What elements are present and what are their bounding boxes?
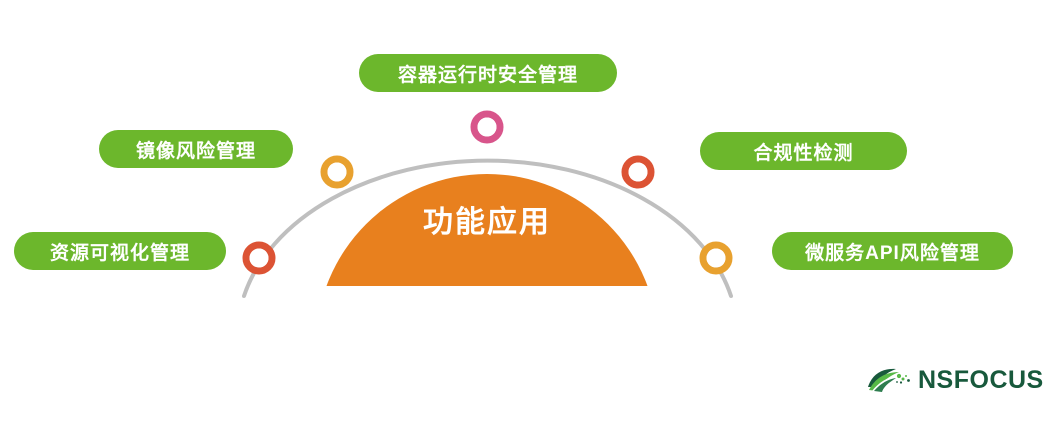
label-microservice-api-risk[interactable]: 微服务API风险管理 [772, 232, 1013, 270]
node-resource[interactable] [246, 245, 272, 271]
node-runtime[interactable] [474, 114, 500, 140]
node-compliance[interactable] [625, 159, 651, 185]
nsfocus-logo: NSFOCUS [866, 363, 1026, 397]
nsfocus-swoosh-icon [866, 365, 912, 395]
node-api[interactable] [703, 245, 729, 271]
label-image-risk-management[interactable]: 镜像风险管理 [99, 130, 293, 168]
diagram-canvas: 功能应用 资源可视化管理 镜像风险管理 容器运行时安全管理 合规性检测 微服务A… [0, 0, 1061, 427]
nsfocus-logo-text: NSFOCUS [918, 368, 1044, 393]
label-compliance-check[interactable]: 合规性检测 [700, 132, 907, 170]
node-image[interactable] [324, 159, 350, 185]
center-dome-label: 功能应用 [316, 208, 658, 238]
label-container-runtime-security[interactable]: 容器运行时安全管理 [359, 54, 617, 92]
label-resource-visualization[interactable]: 资源可视化管理 [14, 232, 226, 270]
